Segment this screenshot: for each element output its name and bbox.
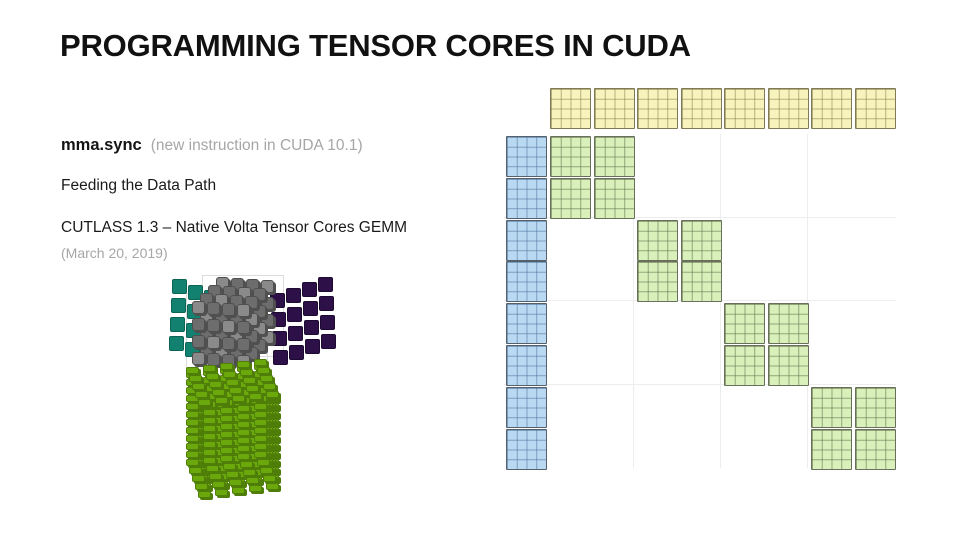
- operand-plane-right-cell: [304, 320, 319, 335]
- accumulator-cube-top: [226, 379, 239, 386]
- accumulator-cube: [266, 483, 279, 490]
- operand-a-tile: [506, 303, 547, 344]
- operand-plane-left-cell: [171, 298, 186, 313]
- tile-subgrid: [595, 137, 634, 176]
- accumulator-cube-top: [240, 369, 253, 376]
- operand-a-tile: [506, 261, 547, 302]
- tile-subgrid: [551, 137, 590, 176]
- tile-subgrid: [856, 89, 895, 128]
- accumulator-cube: [254, 427, 267, 434]
- accumulator-cube-top: [189, 375, 202, 382]
- accumulator-cube: [198, 491, 211, 498]
- tensor-core-cube: [222, 303, 235, 316]
- accumulator-tile: [855, 429, 896, 470]
- accumulator-cube: [186, 451, 199, 458]
- accumulator-cube-top: [223, 371, 236, 378]
- accumulator-cube: [203, 409, 216, 416]
- tile-subgrid: [769, 89, 808, 128]
- accumulator-cube: [220, 447, 233, 454]
- operand-plane-right-cell: [287, 307, 302, 322]
- operand-b-tile: [855, 88, 896, 129]
- bullet-feeding-data-path: Feeding the Data Path: [61, 177, 216, 195]
- tile-subgrid: [856, 388, 895, 427]
- tensor-core-cube: [207, 302, 220, 315]
- accumulator-cube-top: [246, 385, 259, 392]
- tensor-core-cube: [222, 320, 235, 333]
- accumulator-cube-top: [263, 383, 276, 390]
- tile-subgrid: [507, 179, 546, 218]
- tile-subgrid: [507, 346, 546, 385]
- tile-subgrid: [725, 304, 764, 343]
- tensor-core-cube: [237, 338, 250, 351]
- tensor-core-cube: [222, 337, 235, 350]
- tile-subgrid: [507, 304, 546, 343]
- grid-guideline-horizontal: [504, 384, 896, 385]
- accumulator-cube: [232, 487, 245, 494]
- operand-plane-right-cell: [321, 334, 336, 349]
- operand-a-tile: [506, 220, 547, 261]
- accumulator-tile: [681, 261, 722, 302]
- tile-subgrid: [682, 262, 721, 301]
- operand-plane-right-cell: [319, 296, 334, 311]
- accumulator-cube: [223, 463, 236, 470]
- tensor-core-cube: [207, 319, 220, 332]
- tile-subgrid: [551, 179, 590, 218]
- accumulator-cube-top: [229, 387, 242, 394]
- tile-subgrid: [769, 346, 808, 385]
- accumulator-tile: [550, 136, 591, 177]
- accumulator-cube: [237, 421, 250, 428]
- tensor-core-cube: [237, 321, 250, 334]
- accumulator-cube: [220, 415, 233, 422]
- accumulator-tile: [811, 429, 852, 470]
- accumulator-cube-top: [232, 395, 245, 402]
- tile-subgrid: [638, 262, 677, 301]
- bullet-cutlass-version: CUTLASS 1.3 – Native Volta Tensor Cores …: [61, 219, 407, 237]
- accumulator-cube: [189, 467, 202, 474]
- accumulator-cube: [206, 465, 219, 472]
- operand-a-tile: [506, 387, 547, 428]
- accumulator-cube: [254, 435, 267, 442]
- mma-sync-note: (new instruction in CUDA 10.1): [142, 137, 363, 154]
- accumulator-cube: [220, 455, 233, 462]
- operand-plane-right-cell: [318, 277, 333, 292]
- accumulator-cube: [203, 441, 216, 448]
- tile-subgrid: [856, 430, 895, 469]
- tensor-core-cube: [237, 304, 250, 317]
- operand-plane-left-cell: [170, 317, 185, 332]
- accumulator-tile: [724, 345, 765, 386]
- bullet-mma-sync: mma.sync(new instruction in CUDA 10.1): [61, 136, 363, 155]
- tensor-core-cube: [207, 336, 220, 349]
- accumulator-cube: [203, 449, 216, 456]
- tile-subgrid: [638, 221, 677, 260]
- accumulator-tile: [724, 303, 765, 344]
- accumulator-cube: [186, 419, 199, 426]
- accumulator-tile: [855, 387, 896, 428]
- accumulator-cube: [220, 407, 233, 414]
- tensor-core-3d-diagram: [160, 263, 342, 481]
- accumulator-cube: [186, 435, 199, 442]
- operand-plane-right-cell: [303, 301, 318, 316]
- operand-plane-right-cell: [305, 339, 320, 354]
- accumulator-cube: [237, 405, 250, 412]
- operand-plane-right-cell: [286, 288, 301, 303]
- accumulator-cube: [237, 445, 250, 452]
- accumulator-tile: [550, 178, 591, 219]
- accumulator-cube-top: [186, 367, 199, 374]
- accumulator-cube: [192, 475, 205, 482]
- accumulator-tile: [681, 220, 722, 261]
- accumulator-cube: [229, 479, 242, 486]
- accumulator-cube: [203, 425, 216, 432]
- tile-subgrid: [507, 221, 546, 260]
- accumulator-cube: [249, 485, 262, 492]
- accumulator-cube: [240, 461, 253, 468]
- accumulator-cube: [186, 459, 199, 466]
- accumulator-cube: [237, 437, 250, 444]
- tile-subgrid: [725, 346, 764, 385]
- accumulator-cube-top: [198, 399, 211, 406]
- tile-subgrid: [551, 89, 590, 128]
- accumulator-cube: [186, 427, 199, 434]
- operand-b-tile: [594, 88, 635, 129]
- accumulator-cube-top: [249, 393, 262, 400]
- mma-sync-code: mma.sync: [61, 136, 142, 154]
- operand-plane-right-cell: [320, 315, 335, 330]
- operand-b-tile: [811, 88, 852, 129]
- accumulator-cube: [254, 443, 267, 450]
- accumulator-tile: [768, 345, 809, 386]
- accumulator-cube-top: [220, 363, 233, 370]
- operand-b-tile: [724, 88, 765, 129]
- tile-subgrid: [812, 430, 851, 469]
- accumulator-cube: [237, 413, 250, 420]
- grid-guideline-vertical: [807, 134, 808, 468]
- accumulator-cube-top: [192, 383, 205, 390]
- accumulator-cube: [203, 433, 216, 440]
- tile-subgrid: [507, 262, 546, 301]
- accumulator-cube: [257, 459, 270, 466]
- tile-subgrid: [595, 89, 634, 128]
- accumulator-cube-top: [215, 397, 228, 404]
- accumulator-cube: [212, 481, 225, 488]
- tensor-core-cube: [192, 352, 205, 365]
- accumulator-cube: [186, 443, 199, 450]
- tensor-core-cube: [192, 335, 205, 348]
- accumulator-cube-top: [243, 377, 256, 384]
- tile-subgrid: [595, 179, 634, 218]
- bullet-release-date: (March 20, 2019): [61, 245, 168, 261]
- accumulator-cube: [237, 429, 250, 436]
- slide-canvas: PROGRAMMING TENSOR CORES IN CUDA mma.syn…: [0, 0, 960, 540]
- accumulator-cube: [254, 403, 267, 410]
- accumulator-cube: [260, 467, 273, 474]
- accumulator-tile: [637, 220, 678, 261]
- tile-subgrid: [682, 89, 721, 128]
- operand-b-tile: [550, 88, 591, 129]
- tensor-core-cube: [192, 318, 205, 331]
- tile-subgrid: [812, 388, 851, 427]
- tile-subgrid: [507, 388, 546, 427]
- accumulator-cube: [220, 423, 233, 430]
- accumulator-cube-top: [266, 391, 279, 398]
- accumulator-cube-top: [212, 389, 225, 396]
- accumulator-cube-top: [209, 381, 222, 388]
- accumulator-cube: [195, 483, 208, 490]
- tile-subgrid: [725, 89, 764, 128]
- tile-subgrid: [682, 221, 721, 260]
- accumulator-cube: [209, 473, 222, 480]
- accumulator-cube: [254, 411, 267, 418]
- accumulator-cube: [220, 431, 233, 438]
- accumulator-cube-top: [237, 361, 250, 368]
- operand-plane-right-cell: [289, 345, 304, 360]
- operand-b-tile: [768, 88, 809, 129]
- accumulator-cube: [263, 475, 276, 482]
- accumulator-cube-top: [254, 359, 267, 366]
- accumulator-cube: [215, 489, 228, 496]
- operand-b-tile: [681, 88, 722, 129]
- operand-plane-right-cell: [273, 350, 288, 365]
- operand-b-tile: [637, 88, 678, 129]
- tile-subgrid: [638, 89, 677, 128]
- accumulator-tile: [637, 261, 678, 302]
- accumulator-cube-top: [203, 365, 216, 372]
- accumulator-tile: [811, 387, 852, 428]
- tile-subgrid: [769, 304, 808, 343]
- accumulator-cube-top: [260, 375, 273, 382]
- accumulator-cube-top: [195, 391, 208, 398]
- operand-plane-right-cell: [288, 326, 303, 341]
- accumulator-cube: [246, 477, 259, 484]
- operand-plane-left-cell: [172, 279, 187, 294]
- tile-subgrid: [507, 430, 546, 469]
- tensor-core-cube: [192, 301, 205, 314]
- accumulator-cube-top: [257, 367, 270, 374]
- accumulator-cube: [186, 411, 199, 418]
- accumulator-cube: [226, 471, 239, 478]
- accumulator-tile: [594, 136, 635, 177]
- accumulator-cube: [220, 439, 233, 446]
- operand-a-tile: [506, 178, 547, 219]
- accumulator-cube: [203, 457, 216, 464]
- tile-subgrid: [507, 137, 546, 176]
- page-title: PROGRAMMING TENSOR CORES IN CUDA: [60, 28, 691, 64]
- tile-subgrid: [812, 89, 851, 128]
- operand-a-tile: [506, 345, 547, 386]
- operand-plane-right-cell: [272, 331, 287, 346]
- operand-plane-left-cell: [169, 336, 184, 351]
- accumulator-tile: [594, 178, 635, 219]
- operand-a-tile: [506, 429, 547, 470]
- accumulator-cube: [237, 453, 250, 460]
- accumulator-tile: [768, 303, 809, 344]
- accumulator-cube: [254, 419, 267, 426]
- accumulator-cube: [254, 451, 267, 458]
- operand-plane-right-cell: [302, 282, 317, 297]
- accumulator-cube: [243, 469, 256, 476]
- accumulator-cube-top: [206, 373, 219, 380]
- operand-a-tile: [506, 136, 547, 177]
- accumulator-cube: [203, 417, 216, 424]
- block-diagonal-gemm-diagram: [490, 80, 950, 480]
